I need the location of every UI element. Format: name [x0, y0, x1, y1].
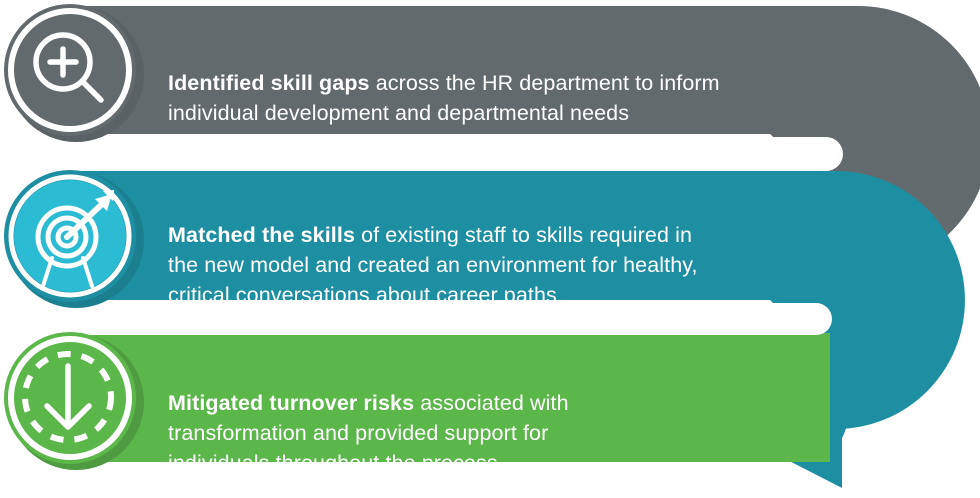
- notch-separator-1: [60, 137, 843, 171]
- step-3-text: Mitigated turnover risks associated with…: [168, 358, 638, 478]
- step-2-lead: Matched the skills: [168, 223, 355, 247]
- step-3-lead: Mitigated turnover risks: [168, 391, 414, 415]
- step-1-text: Identified skill gaps across the HR depa…: [168, 38, 728, 128]
- step-1-badge-fill: [4, 4, 136, 136]
- infographic-root: Identified skill gaps across the HR depa…: [0, 0, 980, 498]
- step-1-lead: Identified skill gaps: [168, 71, 370, 95]
- step-2-text: Matched the skills of existing staff to …: [168, 190, 708, 310]
